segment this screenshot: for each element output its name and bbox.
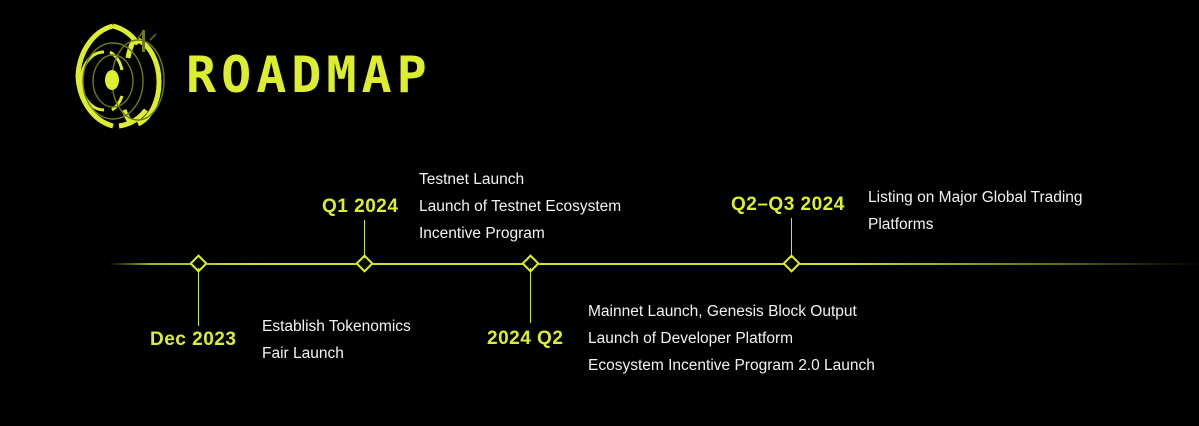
- timeline-axis: [0, 263, 1199, 265]
- milestone-description-line: Testnet Launch: [419, 166, 621, 193]
- milestone-description: Mainnet Launch, Genesis Block Output Lau…: [588, 298, 875, 379]
- milestone-stem: [530, 268, 531, 323]
- roadmap-page: ROADMAP Dec 2023 Establish Tokenomics Fa…: [0, 0, 1199, 426]
- milestone-description-line: Platforms: [868, 211, 1083, 238]
- milestone-description-line: Launch of Developer Platform: [588, 325, 875, 352]
- milestone-description-line: Ecosystem Incentive Program 2.0 Launch: [588, 352, 875, 379]
- milestone-description-line: Incentive Program: [419, 220, 621, 247]
- milestone-period-label: Dec 2023: [150, 329, 236, 351]
- roadmap-emblem-icon: [66, 14, 178, 136]
- milestone-stem: [364, 220, 365, 258]
- milestone-description: Testnet Launch Launch of Testnet Ecosyst…: [419, 166, 621, 247]
- milestone-description-line: Launch of Testnet Ecosystem: [419, 193, 621, 220]
- milestone-period-label: Q1 2024: [322, 196, 398, 218]
- milestone-description: Listing on Major Global Trading Platform…: [868, 184, 1083, 238]
- milestone-period-label: 2024 Q2: [487, 328, 563, 350]
- milestone-description-line: Listing on Major Global Trading: [868, 184, 1083, 211]
- milestone-description-line: Fair Launch: [262, 340, 411, 367]
- milestone-description-line: Establish Tokenomics: [262, 313, 411, 340]
- milestone-description: Establish Tokenomics Fair Launch: [262, 313, 411, 367]
- milestone-stem: [198, 268, 199, 326]
- milestone-description-line: Mainnet Launch, Genesis Block Output: [588, 298, 875, 325]
- milestone-period-label: Q2–Q3 2024: [731, 194, 845, 216]
- page-title: ROADMAP: [186, 44, 432, 106]
- milestone-stem: [791, 218, 792, 258]
- header: ROADMAP: [0, 0, 1199, 150]
